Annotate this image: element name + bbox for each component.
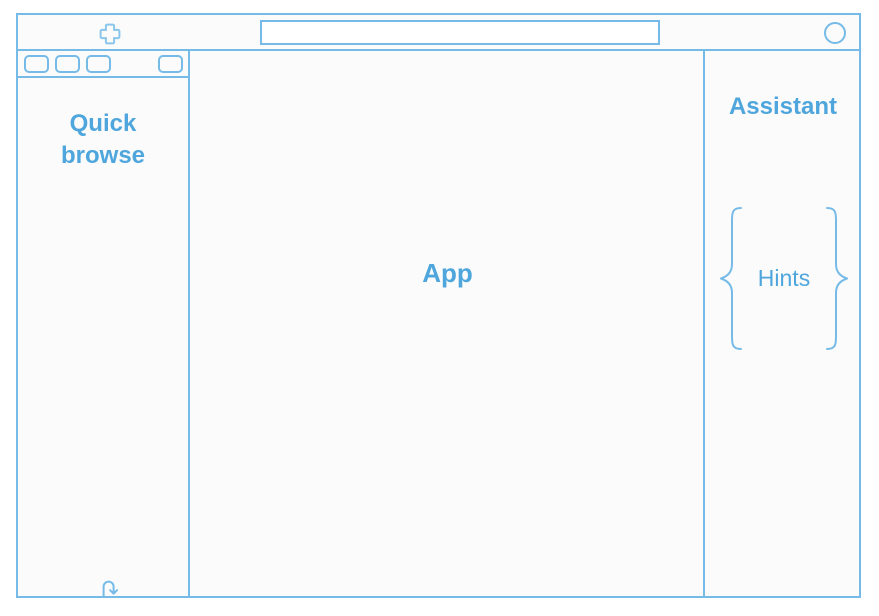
browser-window: Quick browse App Assistant Hints [16,13,861,598]
sidebar-tool-3[interactable] [86,55,111,73]
hints-group: Hints [719,206,849,351]
right-curly-brace-icon [823,206,849,351]
app-placeholder-label: App [192,1,703,546]
sidebar-heading: Quick browse [18,108,188,172]
sidebar-toolbar [18,51,188,78]
sidebar-tool-1[interactable] [24,55,49,73]
sidebar-tool-2[interactable] [55,55,80,73]
left-curly-brace-icon [719,206,745,351]
circle-avatar-icon[interactable] [824,22,846,44]
assistant-heading: Assistant [707,93,859,121]
quick-browse-sidebar: Quick browse [18,51,190,596]
sidebar-tool-4[interactable] [158,55,183,73]
window-body: Quick browse App Assistant Hints [18,51,859,596]
plus-icon[interactable] [97,21,123,47]
assistant-panel: Assistant Hints [707,51,859,596]
app-content-area: App [192,51,705,596]
hints-label: Hints [758,265,810,292]
u-turn-arrow-icon[interactable] [95,574,125,604]
